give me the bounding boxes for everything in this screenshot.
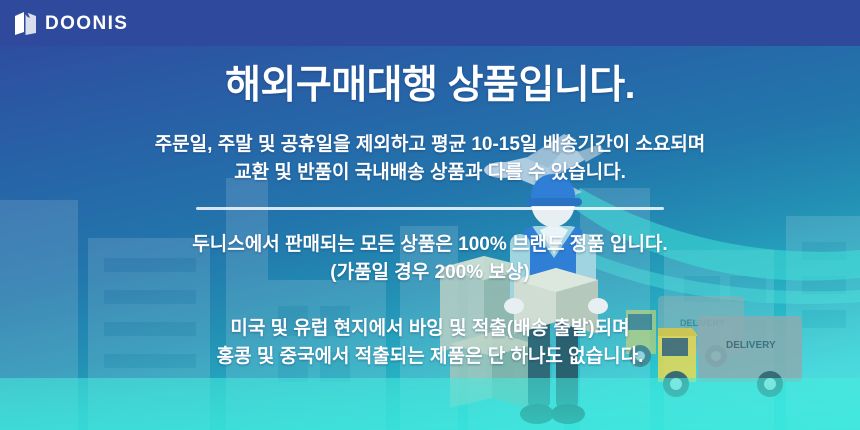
- authenticity-notice: 두니스에서 판매되는 모든 상품은 100% 브랜드 정품 입니다. (가품일 …: [0, 231, 860, 287]
- section-divider: [196, 207, 664, 210]
- shipping-notice: 주문일, 주말 및 공휴일을 제외하고 평균 10-15일 배송기간이 소요되며…: [0, 131, 860, 187]
- brand-name: DOONIS: [45, 14, 128, 33]
- page-title: 해외구매대행 상품입니다.: [0, 46, 860, 111]
- package-box-icon: [14, 10, 38, 36]
- sourcing-notice-line-2: 홍콩 및 중국에서 적출되는 제품은 단 하나도 없습니다.: [0, 343, 860, 371]
- brand-header: DOONIS: [0, 0, 860, 46]
- promo-banner: DELIVERY DELIVERY DO: [0, 0, 860, 430]
- sourcing-notice: 미국 및 유럽 현지에서 바잉 및 적출(배송 출발)되며 홍콩 및 중국에서 …: [0, 315, 860, 371]
- sourcing-notice-line-1: 미국 및 유럽 현지에서 바잉 및 적출(배송 출발)되며: [0, 315, 860, 343]
- authenticity-notice-line-1: 두니스에서 판매되는 모든 상품은 100% 브랜드 정품 입니다.: [0, 231, 860, 259]
- shipping-notice-line-1: 주문일, 주말 및 공휴일을 제외하고 평균 10-15일 배송기간이 소요되며: [0, 131, 860, 159]
- authenticity-notice-line-2: (가품일 경우 200% 보상): [0, 259, 860, 287]
- shipping-notice-line-2: 교환 및 반품이 국내배송 상품과 다를 수 있습니다.: [0, 159, 860, 187]
- brand-logo[interactable]: DOONIS: [14, 10, 128, 36]
- banner-content: 해외구매대행 상품입니다. 주문일, 주말 및 공휴일을 제외하고 평균 10-…: [0, 46, 860, 430]
